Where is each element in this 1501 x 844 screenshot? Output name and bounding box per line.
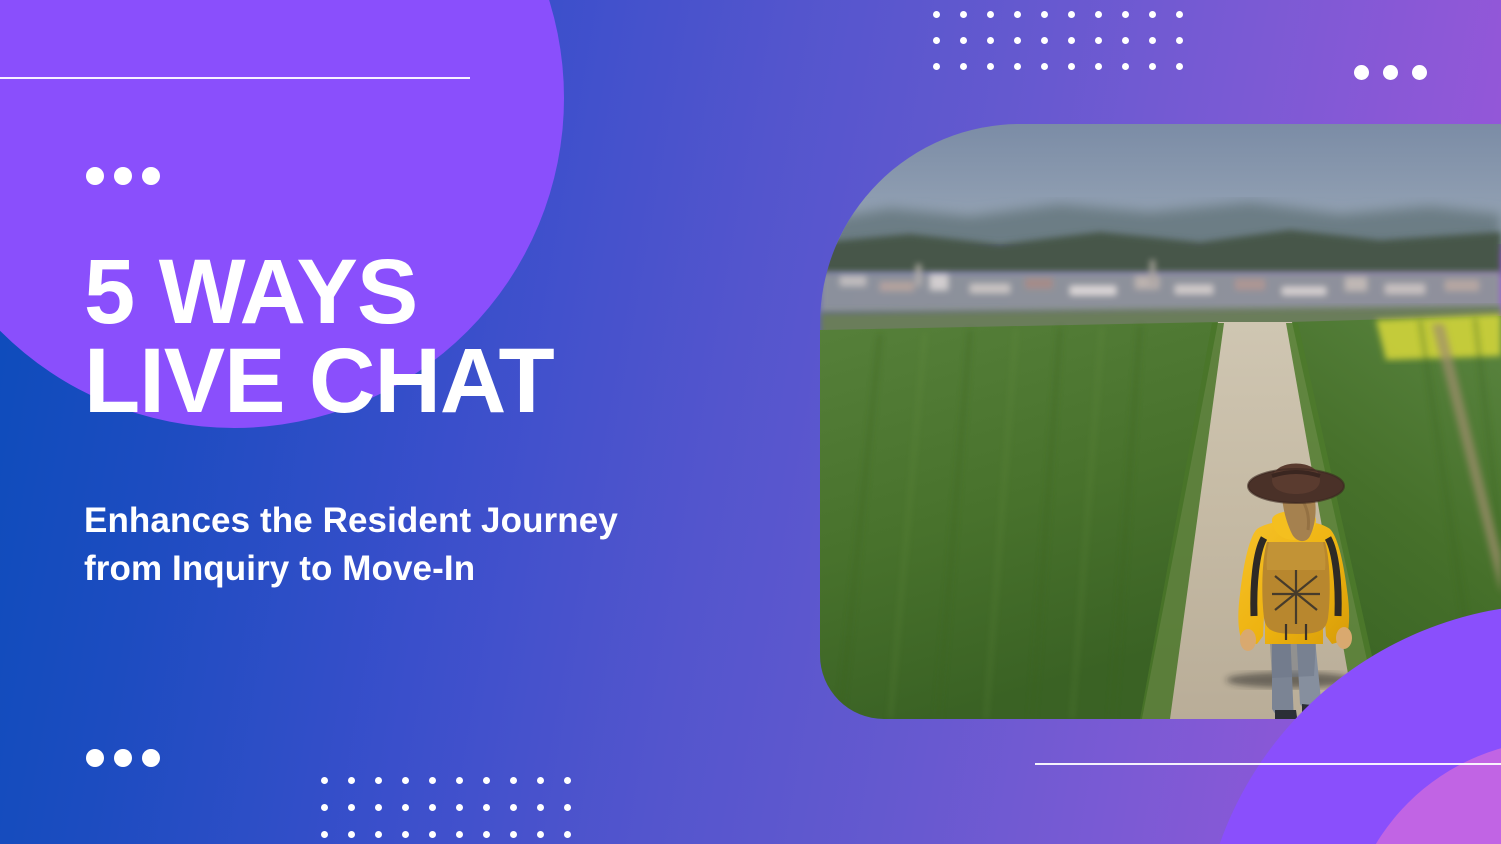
dot-icon	[1412, 65, 1427, 80]
three-dots-top-right-decoration	[1354, 65, 1441, 80]
white-rule-top-left	[0, 77, 470, 79]
hero-photo	[820, 124, 1501, 719]
dot-grid-bottom-left	[321, 777, 571, 838]
dot-icon	[86, 167, 104, 185]
dot-icon	[114, 749, 132, 767]
dot-icon	[114, 167, 132, 185]
dot-icon	[142, 749, 160, 767]
dot-grid-top-right	[933, 11, 1183, 70]
three-dots-footer-decoration	[86, 749, 160, 767]
page-title: 5 WAYS LIVE CHAT	[84, 248, 804, 426]
three-dots-above-headline	[86, 167, 160, 185]
dot-icon	[1354, 65, 1369, 80]
hero-photo-illustration	[820, 124, 1501, 719]
dot-icon	[1383, 65, 1398, 80]
dot-icon	[142, 167, 160, 185]
dot-icon	[86, 749, 104, 767]
slide-canvas: 5 WAYS LIVE CHAT Enhances the Resident J…	[0, 0, 1501, 844]
white-rule-bottom-right	[1035, 763, 1501, 765]
page-subtitle: Enhances the Resident Journey from Inqui…	[84, 497, 804, 594]
